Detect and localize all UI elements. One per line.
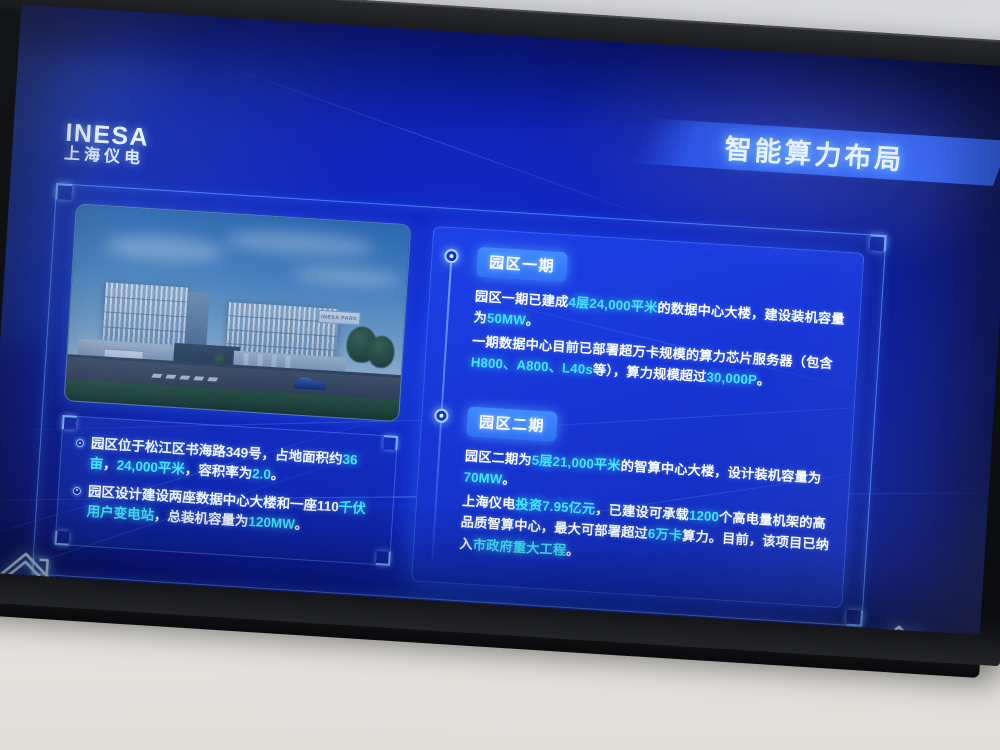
bullet-dot-icon [73,486,81,494]
highlight-text: 5层21,000平米 [531,453,621,474]
phase-1-section: 园区一期 园区一期已建成4层24,000平米的数据中心大楼，建设装机容量为50M… [470,247,853,397]
card-corner-top-right [383,435,398,450]
photo-color-tint [65,204,411,421]
phases-panel: 园区一期 园区一期已建成4层24,000平米的数据中心大楼，建设装机容量为50M… [411,226,865,608]
park-overview-card: 园区位于松江区书海路349号，占地面积约36亩，24,000平米，容积率为2.0… [55,415,398,566]
phase-2-section: 园区二期 园区二期为5层21,000平米的智算中心大楼，设计装机容量为70MW。… [459,406,844,577]
frame-corner-bottom-right [846,610,863,627]
body-text: ，容积率为 [184,462,252,481]
phase-timeline-line [431,249,452,559]
bullet-list: 园区位于松江区书海路349号，占地面积约36亩，24,000平米，容积率为2.0… [69,433,382,540]
highlight-text: 6万卡 [647,526,682,543]
card-corner-bottom-left [55,531,70,546]
room-scene: 智能算力布局 INESA 上海仪电 [0,0,1000,750]
card-corner-bottom-right [376,551,391,566]
body-text: 。 [757,373,771,389]
highlight-text: 70MW [463,470,503,487]
highlight-text: 30,000P [706,369,757,387]
highlight-text: 24,000平米 [116,458,185,477]
body-text: 上海仪电 [462,493,516,511]
slide-title-ribbon: 智能算力布局 [634,118,1000,186]
highlight-text: 市政府重大工程 [472,536,566,557]
presentation-screen: 智能算力布局 INESA 上海仪电 [0,5,1000,635]
highlight-text: 120MW [248,514,295,532]
body-text: 。 [525,313,539,329]
body-text: 。 [270,467,284,483]
logo-chinese-name: 上海仪电 [64,147,149,169]
highlight-text: 投资7.95亿元 [515,496,596,516]
highlight-text: H800、A800、L40s [470,355,593,378]
highlight-text: 1200 [689,507,720,524]
house-icon[interactable] [0,544,69,613]
phase-2-body: 园区二期为5层21,000平米的智算中心大楼，设计装机容量为70MW。上海仪电投… [459,445,841,577]
body-text: 园区二期为 [464,448,532,467]
body-text: ，总装机容量为 [154,508,249,529]
body-text: 等），算力规模超过 [592,362,707,384]
building-rendering-image: INESA PARK [64,203,412,422]
body-text: ， [103,457,117,473]
wall-mounted-display: 智能算力布局 INESA 上海仪电 [0,0,1000,666]
phase-2-badge: 园区二期 [466,406,558,442]
body-text: 园区一期已建成 [475,289,569,310]
frame-corner-top-left [55,183,72,200]
left-column: INESA PARK [55,203,416,566]
body-text: 。 [566,542,580,558]
page-title: 智能算力布局 [724,127,920,178]
content-frame: INESA PARK [32,183,887,626]
timeline-node-phase-1 [444,249,459,264]
body-text: 的智算中心大楼，设计装机容量为 [620,458,821,486]
timeline-node-phase-2 [434,408,449,423]
house-icon[interactable] [865,617,943,635]
frame-corner-top-right [870,234,887,251]
phase-1-badge: 园区一期 [476,247,568,283]
highlight-text: 50MW [487,311,527,328]
highlight-text: 2.0 [252,466,272,482]
phase-1-body: 园区一期已建成4层24,000平米的数据中心大楼，建设装机容量为50MW。一期数… [470,286,851,397]
body-text: ，已建设可承载 [595,501,689,522]
card-corner-top-left [62,415,77,430]
body-text: 。 [294,517,308,533]
highlight-text: 4层24,000平米 [568,295,658,316]
tv-bezel: 智能算力布局 INESA 上海仪电 [0,0,1000,666]
brand-logo: INESA 上海仪电 [64,120,151,169]
bullet-dot-icon [76,439,84,447]
body-text: 。 [502,472,516,488]
